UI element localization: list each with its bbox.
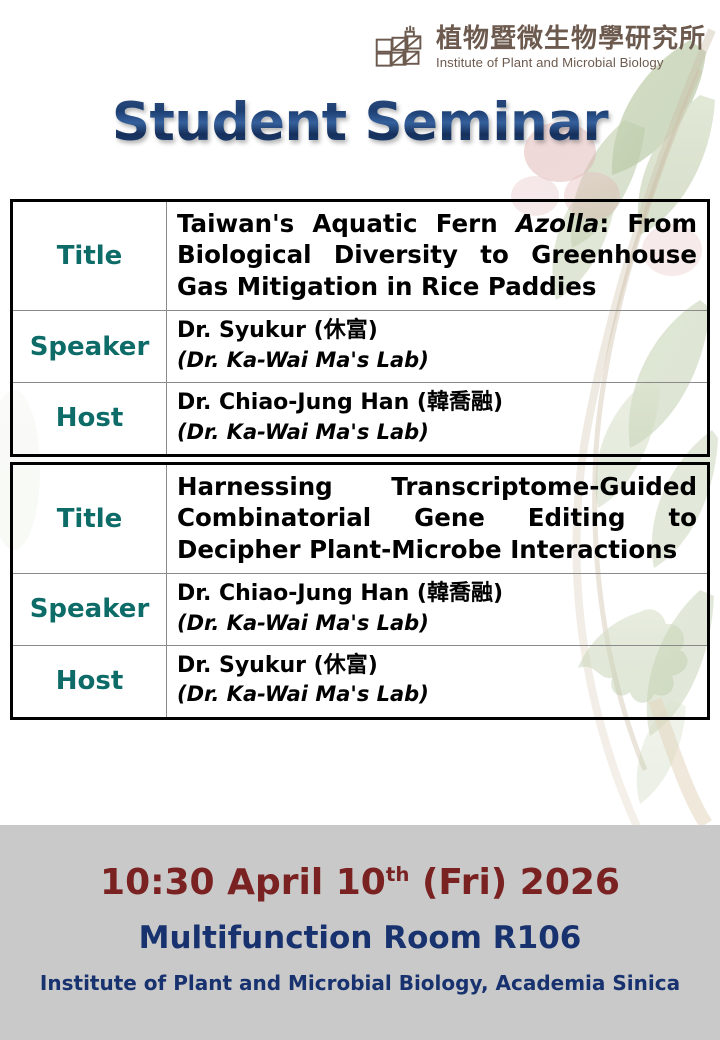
table-row: Speaker Dr. Syukur (休富) (Dr. Ka-Wai Ma's… [12,311,709,383]
row-label-title: Title [12,201,167,311]
host-lab: (Dr. Ka-Wai Ma's Lab) [177,419,697,446]
event-institution: Institute of Plant and Microbial Biology… [0,972,720,994]
host-lab: (Dr. Ka-Wai Ma's Lab) [177,681,697,708]
event-datetime: 10:30 April 10th (Fri) 2026 [0,863,720,903]
event-footer: 10:30 April 10th (Fri) 2026 Multifunctio… [0,825,720,1040]
event-date: April 10 [227,862,386,903]
speaker-lab: (Dr. Ka-Wai Ma's Lab) [177,347,697,374]
table-row: Title Harnessing Transcriptome-Guided Co… [12,463,709,573]
row-label-speaker: Speaker [12,573,167,645]
event-weekday-year: (Fri) 2026 [422,862,620,903]
table-row: Host Dr. Syukur (休富) (Dr. Ka-Wai Ma's La… [12,645,709,718]
page-title: Student Seminar [0,96,720,149]
date-ordinal-suffix: th [386,863,410,886]
block-separator [12,455,709,463]
seminar-details-table: Title Taiwan's Aquatic Fern Azolla: From… [10,199,710,720]
row-label-host: Host [12,645,167,718]
seminar-1-host: Dr. Chiao-Jung Han (韓喬融) (Dr. Ka-Wai Ma'… [167,382,709,455]
row-label-speaker: Speaker [12,311,167,383]
host-name: Dr. Chiao-Jung Han (韓喬融) [177,389,697,418]
title-text-pre: Taiwan's Aquatic Fern [177,209,516,238]
table-row: Host Dr. Chiao-Jung Han (韓喬融) (Dr. Ka-Wa… [12,382,709,455]
event-time: 10:30 [100,862,215,903]
event-location: Multifunction Room R106 [0,921,720,955]
speaker-lab: (Dr. Ka-Wai Ma's Lab) [177,610,697,637]
speaker-name: Dr. Chiao-Jung Han (韓喬融) [177,580,697,609]
host-name: Dr. Syukur (休富) [177,652,697,681]
institute-name-chinese: 植物暨微生物學研究所 [436,26,706,52]
seminar-2-host: Dr. Syukur (休富) (Dr. Ka-Wai Ma's Lab) [167,645,709,718]
seminar-1-speaker: Dr. Syukur (休富) (Dr. Ka-Wai Ma's Lab) [167,311,709,383]
seminar-2-title: Harnessing Transcriptome-Guided Combinat… [167,463,709,573]
ipmb-plant-cell-logo-icon [371,22,427,74]
speaker-name: Dr. Syukur (休富) [177,317,697,346]
row-label-title: Title [12,463,167,573]
seminar-2-speaker: Dr. Chiao-Jung Han (韓喬融) (Dr. Ka-Wai Ma'… [167,573,709,645]
seminar-1-title: Taiwan's Aquatic Fern Azolla: From Biolo… [167,201,709,311]
table-row: Title Taiwan's Aquatic Fern Azolla: From… [12,201,709,311]
row-label-host: Host [12,382,167,455]
institute-name-english: Institute of Plant and Microbial Biology [436,56,706,69]
seminar-poster: 植物暨微生物學研究所 Institute of Plant and Microb… [0,0,720,1040]
table-row: Speaker Dr. Chiao-Jung Han (韓喬融) (Dr. Ka… [12,573,709,645]
institute-branding: 植物暨微生物學研究所 Institute of Plant and Microb… [371,22,706,74]
title-species-italic: Azolla [516,209,599,238]
